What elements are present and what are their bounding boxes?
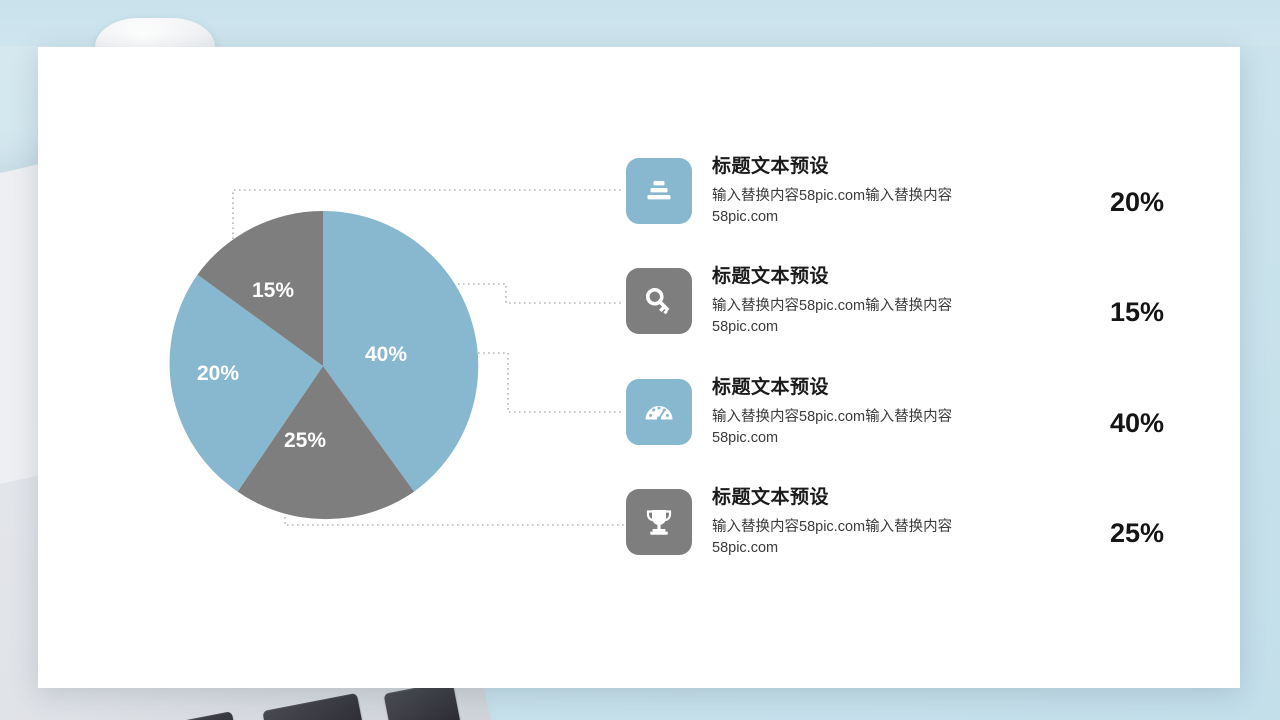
pie-slice-label-25: 25%	[284, 429, 326, 452]
legend-row-title: 标题文本预设	[712, 485, 1110, 511]
legend-row-3[interactable]: 标题文本预设 输入替换内容58pic.com输入替换内容58pic.com 40…	[626, 373, 1206, 465]
legend-row-2[interactable]: 标题文本预设 输入替换内容58pic.com输入替换内容58pic.com 15…	[626, 262, 1206, 354]
background-keycap	[157, 711, 243, 720]
pie-slice-label-40: 40%	[365, 343, 407, 366]
key-icon	[626, 268, 692, 334]
legend-row-1[interactable]: 标题文本预设 输入替换内容58pic.com输入替换内容58pic.com 20…	[626, 152, 1206, 244]
pie-chart-svg: 40% 25% 20% 15%	[158, 201, 488, 531]
slide-canvas: o x A tab	[0, 0, 1280, 720]
legend-row-desc: 输入替换内容58pic.com输入替换内容58pic.com	[712, 407, 998, 449]
legend-row-title: 标题文本预设	[712, 264, 1110, 290]
legend-row-desc: 输入替换内容58pic.com输入替换内容58pic.com	[712, 296, 998, 338]
slide-card: 40% 25% 20% 15% 标题文本预设 输入替换内容5	[38, 47, 1240, 688]
pie-chart: 40% 25% 20% 15%	[158, 201, 678, 601]
gauge-icon	[626, 379, 692, 445]
pie-slice-label-20: 20%	[197, 362, 239, 385]
legend-row-percent: 25%	[1110, 483, 1206, 549]
legend-row-percent: 15%	[1110, 262, 1206, 328]
legend-row-percent: 40%	[1110, 373, 1206, 439]
trophy-icon	[626, 489, 692, 555]
legend-row-text: 标题文本预设 输入替换内容58pic.com输入替换内容58pic.com	[692, 373, 1110, 449]
legend-row-text: 标题文本预设 输入替换内容58pic.com输入替换内容58pic.com	[692, 483, 1110, 559]
legend-row-desc: 输入替换内容58pic.com输入替换内容58pic.com	[712, 517, 998, 559]
stacked-bars-icon	[626, 158, 692, 224]
background-keycap: tab	[262, 693, 368, 720]
legend-row-4[interactable]: 标题文本预设 输入替换内容58pic.com输入替换内容58pic.com 25…	[626, 483, 1206, 575]
legend-row-text: 标题文本预设 输入替换内容58pic.com输入替换内容58pic.com	[692, 152, 1110, 228]
legend-row-percent: 20%	[1110, 152, 1206, 218]
legend-row-title: 标题文本预设	[712, 375, 1110, 401]
legend-row-title: 标题文本预设	[712, 154, 1110, 180]
legend-row-text: 标题文本预设 输入替换内容58pic.com输入替换内容58pic.com	[692, 262, 1110, 338]
pie-slice-label-15: 15%	[252, 279, 294, 302]
legend-row-desc: 输入替换内容58pic.com输入替换内容58pic.com	[712, 186, 998, 228]
